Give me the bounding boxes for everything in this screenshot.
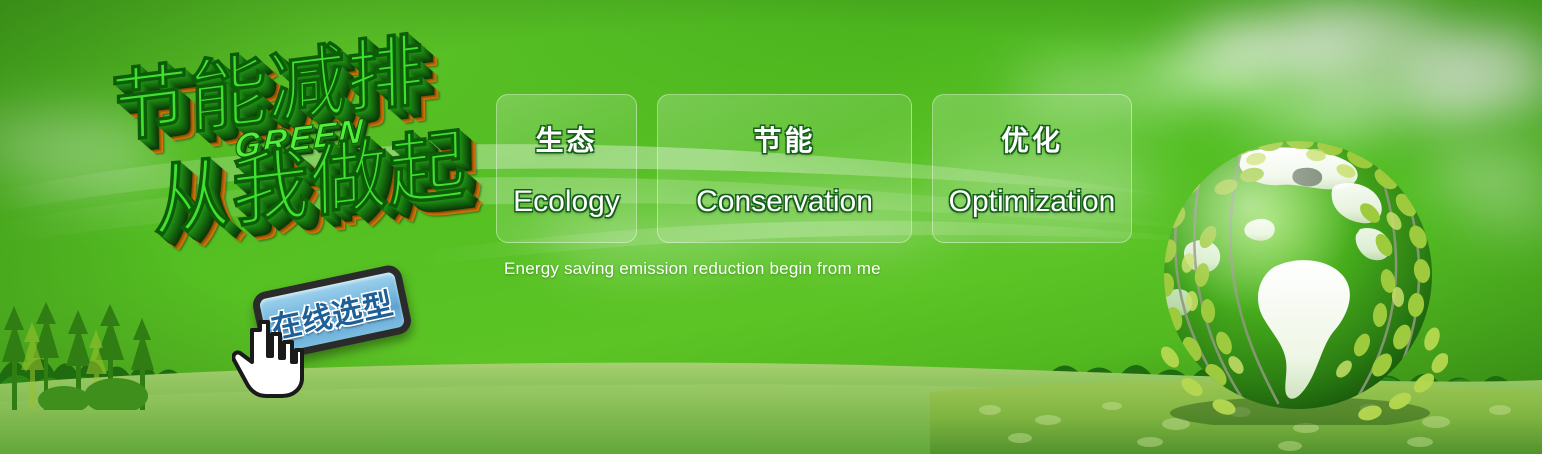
headline-artwork: 节能减排 GREEN 从我做起	[96, 36, 496, 272]
cta-plate[interactable]: 在线选型	[250, 263, 413, 363]
headline-line-1: 节能减排	[110, 31, 425, 148]
cloud-icon	[1195, 18, 1385, 76]
feature-card-title-en: Conservation	[696, 185, 873, 219]
feature-card-ecology[interactable]: 生态 Ecology	[496, 94, 637, 243]
online-selection-button[interactable]: 在线选型	[250, 263, 413, 363]
tagline-text: Energy saving emission reduction begin f…	[504, 259, 881, 279]
conifer-trees-icon	[0, 300, 180, 410]
feature-card-conservation[interactable]: 节能 Conservation	[657, 94, 912, 243]
cloud-icon	[0, 110, 160, 170]
cloud-icon	[1150, 46, 1270, 90]
headline-subtitle: GREEN	[234, 114, 366, 164]
tree-line-icon	[0, 328, 1542, 398]
feature-card-optimization[interactable]: 优化 Optimization	[932, 94, 1132, 243]
feature-card-title-cn: 优化	[1001, 119, 1063, 159]
cloud-icon	[1425, 150, 1542, 194]
cta-label: 在线选型	[267, 279, 397, 348]
eco-banner: 节能减排 GREEN 从我做起 在线选型 生态 Ecology 节能 Conse…	[0, 0, 1542, 454]
leafy-globe-icon	[1148, 125, 1448, 425]
feature-card-title-cn: 节能	[753, 119, 815, 159]
cloud-icon	[1230, 96, 1380, 136]
feature-card-title-cn: 生态	[535, 119, 597, 159]
feature-card-list: 生态 Ecology 节能 Conservation 优化 Optimizati…	[496, 94, 1132, 243]
cloud-icon	[1300, 70, 1490, 120]
cloud-icon	[10, 148, 170, 196]
feature-card-title-en: Ecology	[513, 185, 620, 219]
cloud-icon	[1460, 196, 1542, 232]
grass-ground	[0, 358, 1542, 454]
cloud-icon	[1290, 4, 1440, 52]
cloud-icon	[1420, 62, 1542, 108]
feature-card-title-en: Optimization	[949, 185, 1116, 219]
cloud-icon	[1380, 30, 1542, 84]
headline-line-2: 从我做起	[152, 125, 467, 242]
